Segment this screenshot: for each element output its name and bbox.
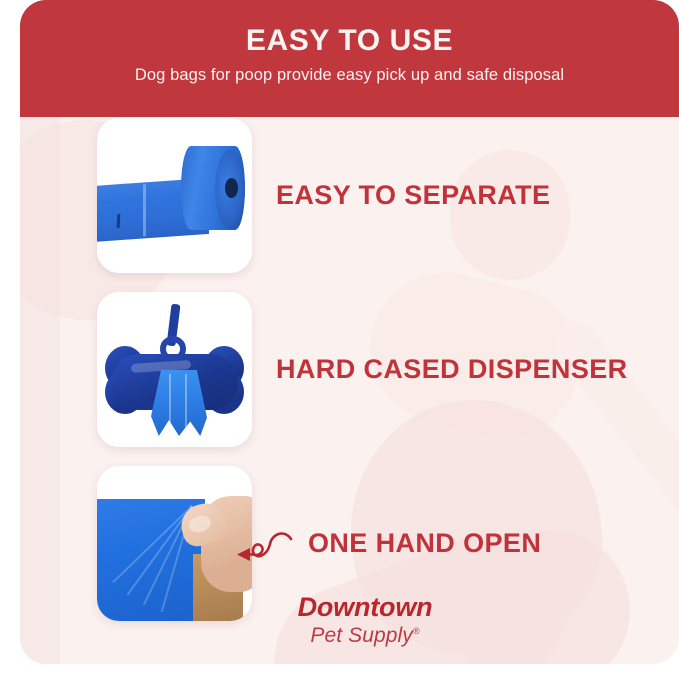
- bag-roll-photo: [97, 118, 252, 273]
- infographic-canvas: EASY TO USE Dog bags for poop provide ea…: [0, 0, 679, 679]
- hand-pulling-bag-photo: [97, 466, 252, 621]
- bag-roll-core-hole: [225, 178, 238, 198]
- bag-crease-one: [169, 374, 171, 428]
- feature-label-easy-to-separate: EASY TO SEPARATE: [276, 180, 550, 211]
- brand-line-two-text: Pet Supply: [310, 624, 413, 647]
- page-subtitle: Dog bags for poop provide easy pick up a…: [20, 57, 679, 85]
- brand-name-line-two: Pet Supply®: [255, 625, 475, 646]
- dispensed-bag-shape: [151, 370, 207, 436]
- registered-trademark-icon: ®: [413, 626, 420, 636]
- brand-name-line-one: Downtown: [255, 594, 475, 621]
- curly-arrow-pointing-left: [236, 524, 294, 572]
- bag-crease-two: [185, 374, 187, 428]
- feature-row-hard-cased-dispenser: HARD CASED DISPENSER: [97, 292, 628, 447]
- brand-logo: Downtown Pet Supply®: [255, 594, 475, 646]
- feature-label-one-hand-open: ONE HAND OPEN: [308, 528, 541, 559]
- page-title: EASY TO USE: [20, 0, 679, 57]
- feature-row-easy-to-separate: EASY TO SEPARATE: [97, 118, 550, 273]
- bone-dispenser-photo: [97, 292, 252, 447]
- header-banner: EASY TO USE Dog bags for poop provide ea…: [20, 0, 679, 117]
- feature-label-hard-cased-dispenser: HARD CASED DISPENSER: [276, 354, 628, 385]
